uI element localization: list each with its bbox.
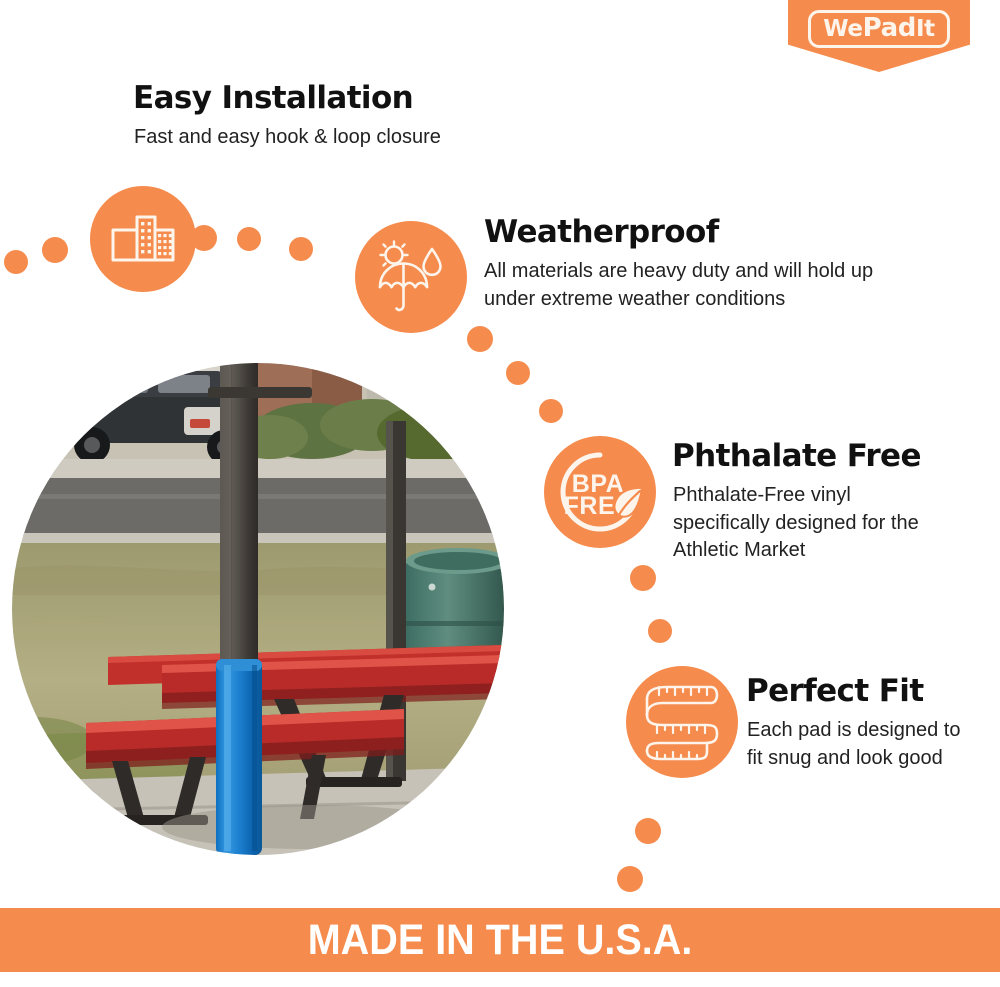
- feature-title-phthalate-free: Phthalate Free: [672, 438, 921, 474]
- connector-dot: [539, 399, 563, 423]
- feature-description-weatherproof: All materials are heavy duty and will ho…: [484, 258, 904, 313]
- feature-title-perfect-fit: Perfect Fit: [746, 673, 924, 709]
- connector-dot: [630, 565, 656, 591]
- feature-description-phthalate-free: Phthalate-Free vinyl specifically design…: [673, 482, 943, 565]
- wepadit-logo-badge: WePadIt: [788, 0, 970, 72]
- building-icon: [90, 186, 196, 292]
- feature-description-perfect-fit: Each pad is designed to fit snug and loo…: [747, 717, 977, 772]
- logo-text: WePadIt: [823, 16, 934, 42]
- connector-dot: [635, 818, 661, 844]
- connector-dot: [289, 237, 313, 261]
- bpa-free-leaf-icon: BPA FREE: [544, 436, 656, 548]
- made-in-usa-text: MADE IN THE U.S.A.: [308, 916, 693, 965]
- measuring-tape-icon: [626, 666, 738, 778]
- connector-dot: [42, 237, 68, 263]
- feature-title-weatherproof: Weatherproof: [484, 214, 719, 250]
- connector-dot: [506, 361, 530, 385]
- product-photo-blue-post-pad: [12, 363, 504, 855]
- sun-umbrella-raindrop-icon: [355, 221, 467, 333]
- connector-dot: [648, 619, 672, 643]
- connector-dot: [617, 866, 643, 892]
- infographic-page: WePadIt Easy Installation Fast and easy …: [0, 0, 1000, 987]
- connector-dot: [4, 250, 28, 274]
- connector-dot: [237, 227, 261, 251]
- logo-frame: WePadIt: [808, 10, 949, 48]
- feature-title-easy-installation: Easy Installation: [133, 80, 413, 116]
- feature-description-easy-installation: Fast and easy hook & loop closure: [134, 124, 554, 152]
- connector-dot: [467, 326, 493, 352]
- made-in-usa-banner: MADE IN THE U.S.A.: [0, 908, 1000, 972]
